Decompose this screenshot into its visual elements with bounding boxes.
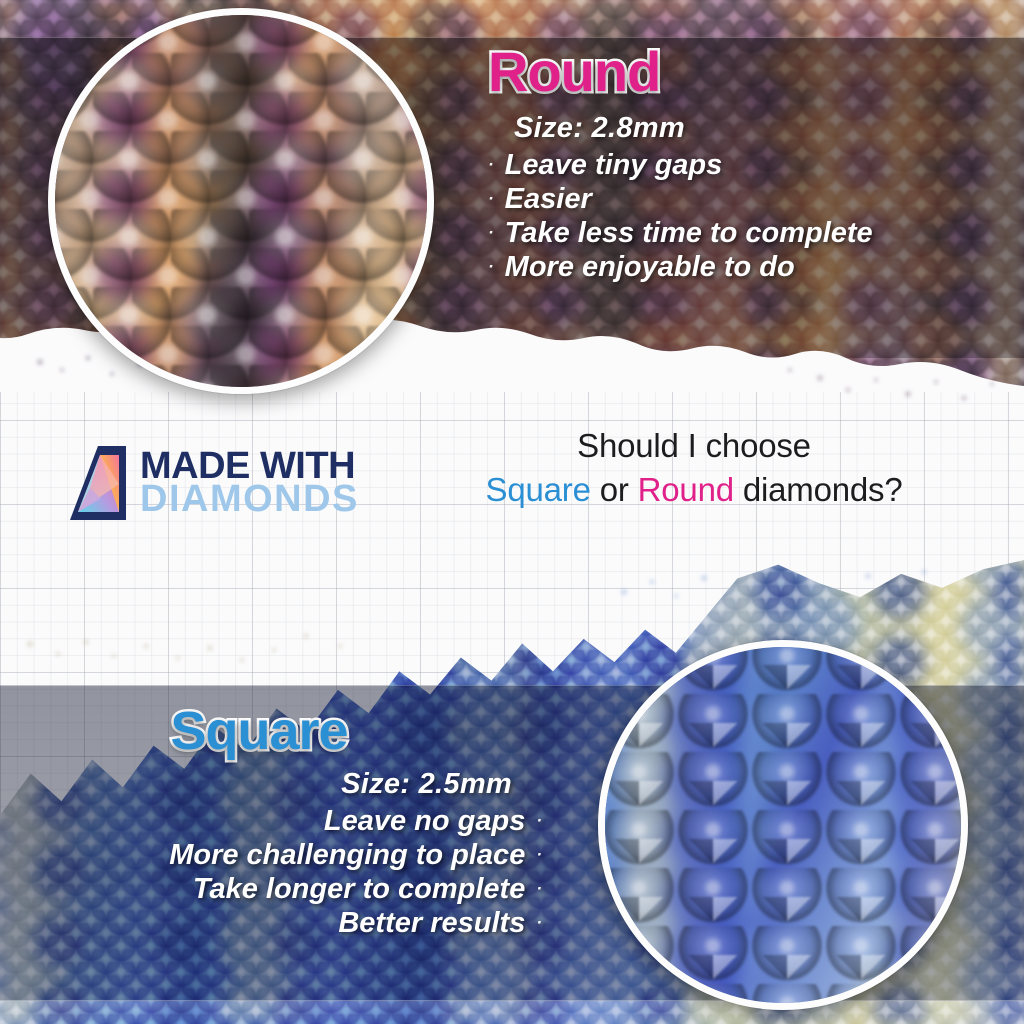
round-magnifier-lens xyxy=(48,8,434,394)
round-bullet-label: Take less time to complete xyxy=(505,217,873,250)
question-word-round: Round xyxy=(638,471,734,508)
question-line-2: Square or Round diamonds? xyxy=(404,468,984,512)
square-info-block: Square Size: 2.5mm Leave no gaps · More … xyxy=(0,704,542,941)
round-bullet-item: · Leave tiny gaps xyxy=(488,149,1008,182)
square-bullet-item: More challenging to place · xyxy=(0,839,542,872)
square-bullet-label: More challenging to place xyxy=(169,839,525,872)
square-lens-bead-texture xyxy=(598,640,968,1010)
question-word-square: Square xyxy=(486,471,591,508)
square-bullet-label: Leave no gaps xyxy=(324,805,525,838)
square-bullet-label: Take longer to complete xyxy=(193,873,526,906)
question-word-or: or xyxy=(591,471,638,508)
bullet-dot-icon: · xyxy=(488,258,494,275)
round-bullet-item: · Take less time to complete xyxy=(488,217,1008,250)
logo-wordmark: MADE WITH DIAMONDS xyxy=(140,450,359,517)
center-band: MADE WITH DIAMONDS Should I choose Squar… xyxy=(0,386,1024,596)
bullet-dot-icon: · xyxy=(536,812,542,829)
question-line-1: Should I choose xyxy=(404,424,984,468)
round-bullet-item: · More enjoyable to do xyxy=(488,251,1008,284)
brand-logo[interactable]: MADE WITH DIAMONDS xyxy=(68,444,359,522)
square-title: Square xyxy=(0,704,542,758)
bullet-dot-icon: · xyxy=(488,156,494,173)
square-bullet-item: Better results · xyxy=(0,907,542,940)
logo-line-diamonds: DIAMONDS xyxy=(140,483,359,516)
diamond-logo-mark xyxy=(68,444,130,522)
round-bullet-label: More enjoyable to do xyxy=(505,251,795,284)
square-magnifier-lens xyxy=(598,640,968,1010)
bullet-dot-icon: · xyxy=(536,846,542,863)
round-lens-image xyxy=(55,15,427,387)
round-bullet-label: Leave tiny gaps xyxy=(505,149,723,182)
round-info-block: Round Size: 2.8mm · Leave tiny gaps · Ea… xyxy=(488,44,1008,285)
square-bullet-list: Leave no gaps · More challenging to plac… xyxy=(0,805,542,940)
square-photo-bottom-highlight-band xyxy=(0,1000,1024,1024)
bullet-dot-icon: · xyxy=(488,224,494,241)
square-bullet-label: Better results xyxy=(338,907,525,940)
square-lens-image xyxy=(605,647,961,1003)
round-bullet-label: Easier xyxy=(505,183,592,216)
bullet-dot-icon: · xyxy=(536,914,542,931)
square-bullet-item: Leave no gaps · xyxy=(0,805,542,838)
square-size-line: Size: 2.5mm xyxy=(0,766,542,803)
round-lens-bead-texture xyxy=(48,8,434,394)
round-title: Round xyxy=(488,44,1008,100)
question-word-tail: diamonds? xyxy=(734,471,903,508)
bullet-dot-icon: · xyxy=(488,190,494,207)
square-bullet-item: Take longer to complete · xyxy=(0,873,542,906)
infographic-canvas: Round Size: 2.8mm · Leave tiny gaps · Ea… xyxy=(0,0,1024,1024)
bullet-dot-icon: · xyxy=(536,880,542,897)
round-size-line: Size: 2.8mm xyxy=(514,110,1008,147)
question-heading: Should I choose Square or Round diamonds… xyxy=(404,424,984,512)
round-bullet-list: · Leave tiny gaps · Easier · Take less t… xyxy=(488,149,1008,284)
round-bullet-item: · Easier xyxy=(488,183,1008,216)
